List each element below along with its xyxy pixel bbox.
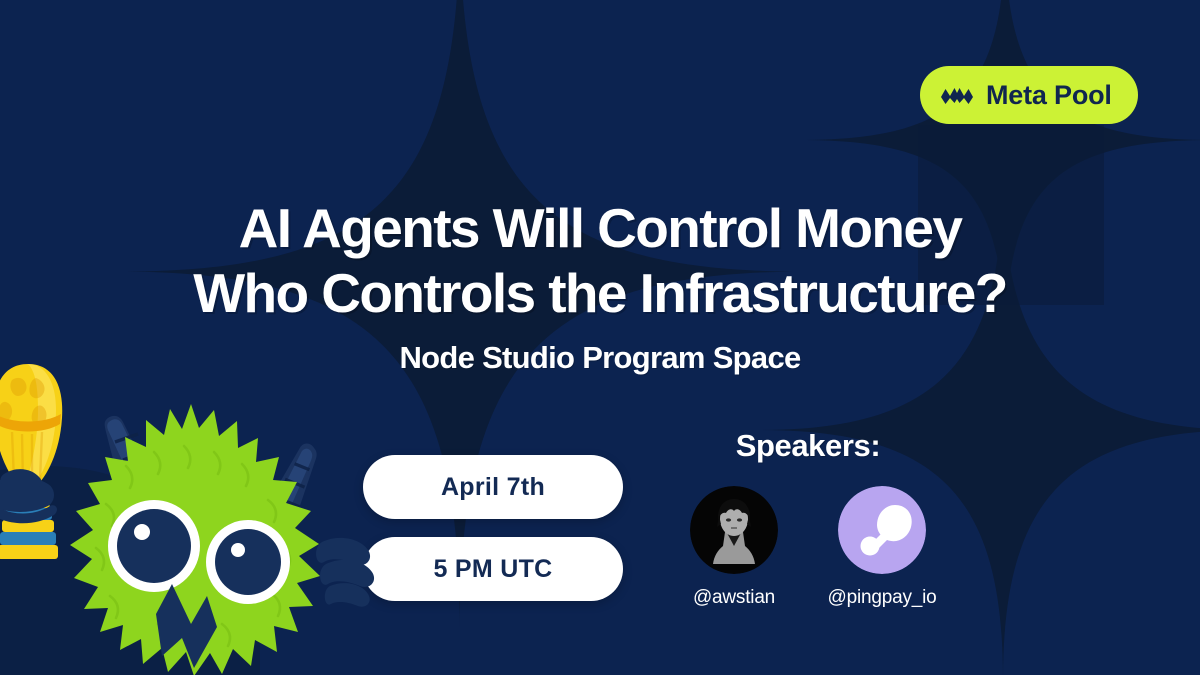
brand-name: Meta Pool [986, 82, 1112, 109]
speaker-pingpay[interactable]: @pingpay_io [827, 486, 937, 609]
speakers-section: Speakers: [648, 428, 968, 609]
speakers-title: Speakers: [648, 428, 968, 464]
awstian-anime-avatar-icon [690, 486, 778, 574]
event-date-label: April 7th [441, 473, 545, 502]
metapool-zigzag-m-icon [940, 84, 974, 106]
event-poster: Meta Pool AI Agents Will Control Money W… [0, 0, 1200, 675]
headline-line-1: AI Agents Will Control Money [0, 196, 1200, 261]
speaker-handle: @awstian [693, 587, 775, 609]
event-time-label: 5 PM UTC [433, 555, 552, 584]
green-furry-monster-with-trophy-icon [0, 356, 406, 675]
pingpay-paddle-avatar-icon [838, 486, 926, 574]
headline-block: AI Agents Will Control Money Who Control… [0, 196, 1200, 326]
speaker-row: @awstian @pingpay_io [648, 486, 968, 609]
headline-line-2: Who Controls the Infrastructure? [0, 261, 1200, 326]
speaker-handle: @pingpay_io [828, 587, 937, 609]
speaker-awstian[interactable]: @awstian [679, 486, 789, 609]
meta-pool-logo-badge[interactable]: Meta Pool [920, 66, 1138, 124]
